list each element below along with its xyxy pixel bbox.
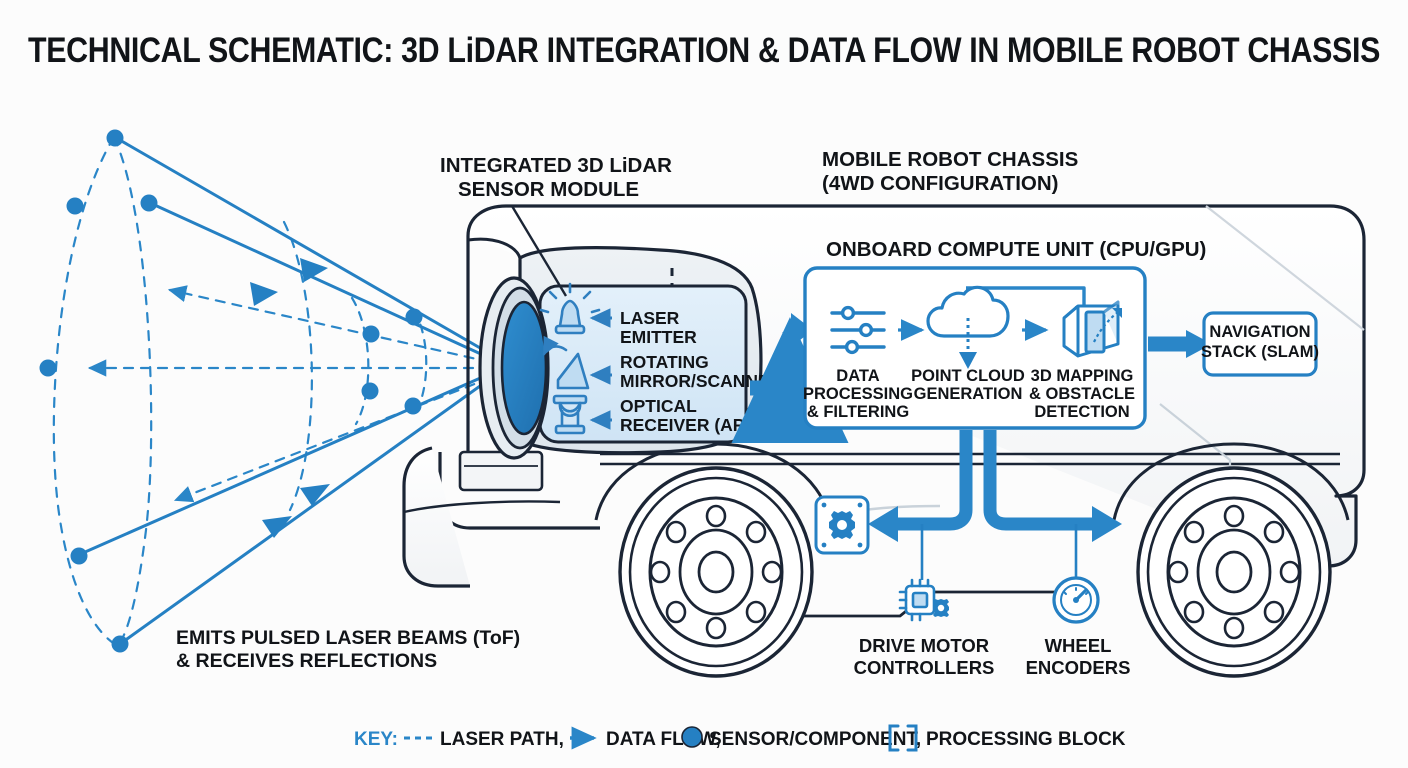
sensor-module-callout-line2: SENSOR MODULE [458,178,639,201]
drive-motor-label-line2: CONTROLLERS [854,657,995,678]
scan-point [40,360,57,377]
chassis-callout-line2: (4WD CONFIGURATION) [822,172,1058,195]
lidar-lens [502,302,546,434]
optical-receiver-label-line2: RECEIVER (APD) [620,415,763,435]
nav-stack-label-line2: STACK (SLAM) [1201,343,1319,361]
legend: KEY: LASER PATH, DATA FLOW, SENSOR/COMPO… [354,726,1126,750]
page-title: TECHNICAL SCHEMATIC: 3D LiDAR INTEGRATIO… [28,30,1380,70]
laser-emitter-label-line2: EMITTER [620,327,697,347]
nav-stack-label-line1: NAVIGATION [1209,323,1310,341]
rotating-mirror-label-line1: ROTATING [620,352,709,372]
legend-item-processing-block: PROCESSING BLOCK [926,729,1126,750]
stage3-label-line2: & OBSTACLE [1029,385,1135,403]
scan-point [141,195,158,212]
drive-controller-module[interactable] [816,497,868,553]
legend-key-label: KEY: [354,729,398,750]
legend-item-data-flow: DATA FLOW, [606,729,721,750]
scan-point [71,548,88,565]
legend-item-laser-path: LASER PATH, [440,729,564,750]
stage2-label-line2: GENERATION [914,385,1023,403]
compute-unit-title: ONBOARD COMPUTE UNIT (CPU/GPU) [826,238,1206,261]
front-light-panel [460,452,542,490]
laser-emitter-label-line1: LASER [620,308,680,328]
chassis-callout-line1: MOBILE ROBOT CHASSIS [822,148,1078,171]
scan-point [107,130,124,147]
gauge-icon [1054,578,1098,622]
scan-point [112,636,129,653]
laser-fan-caption-line2: & RECEIVES REFLECTIONS [176,650,437,672]
scan-point [363,326,380,343]
scan-point [362,383,379,400]
stage3-label-line1: 3D MAPPING [1031,367,1134,385]
stage1-label-line1: DATA [836,367,879,385]
onboard-compute-unit[interactable]: DATA PROCESSING & FILTERING POINT CLOUD … [803,268,1145,428]
laser-fan-caption-line1: EMITS PULSED LASER BEAMS (ToF) [176,627,520,649]
stage2-label-line1: POINT CLOUD [911,367,1025,385]
filled-dot-glyph [682,727,702,747]
gear-icon [829,511,855,539]
schematic-canvas: TECHNICAL SCHEMATIC: 3D LiDAR INTEGRATIO… [0,0,1408,768]
rear-wheel [1138,468,1330,676]
sensor-module-callout-line1: INTEGRATED 3D LiDAR [440,154,672,177]
technical-schematic: TECHNICAL SCHEMATIC: 3D LiDAR INTEGRATIO… [0,0,1408,768]
wheel-encoders-label-line2: ENCODERS [1026,657,1131,678]
navigation-stack-block[interactable]: NAVIGATION STACK (SLAM) [1201,313,1319,375]
scan-point [405,398,422,415]
stage1-label-line2: PROCESSING [803,385,913,403]
optical-receiver-label-line1: OPTICAL [620,396,697,416]
drive-motor-label-line1: DRIVE MOTOR [859,635,989,656]
stage1-label-line3: & FILTERING [807,403,909,421]
front-wheel [620,468,812,676]
wheel-encoders-label-line1: WHEEL [1045,635,1112,656]
sliders-icon [832,308,884,353]
scan-point [406,309,423,326]
scan-point [67,198,84,215]
stage3-label-line3: DETECTION [1034,403,1129,421]
